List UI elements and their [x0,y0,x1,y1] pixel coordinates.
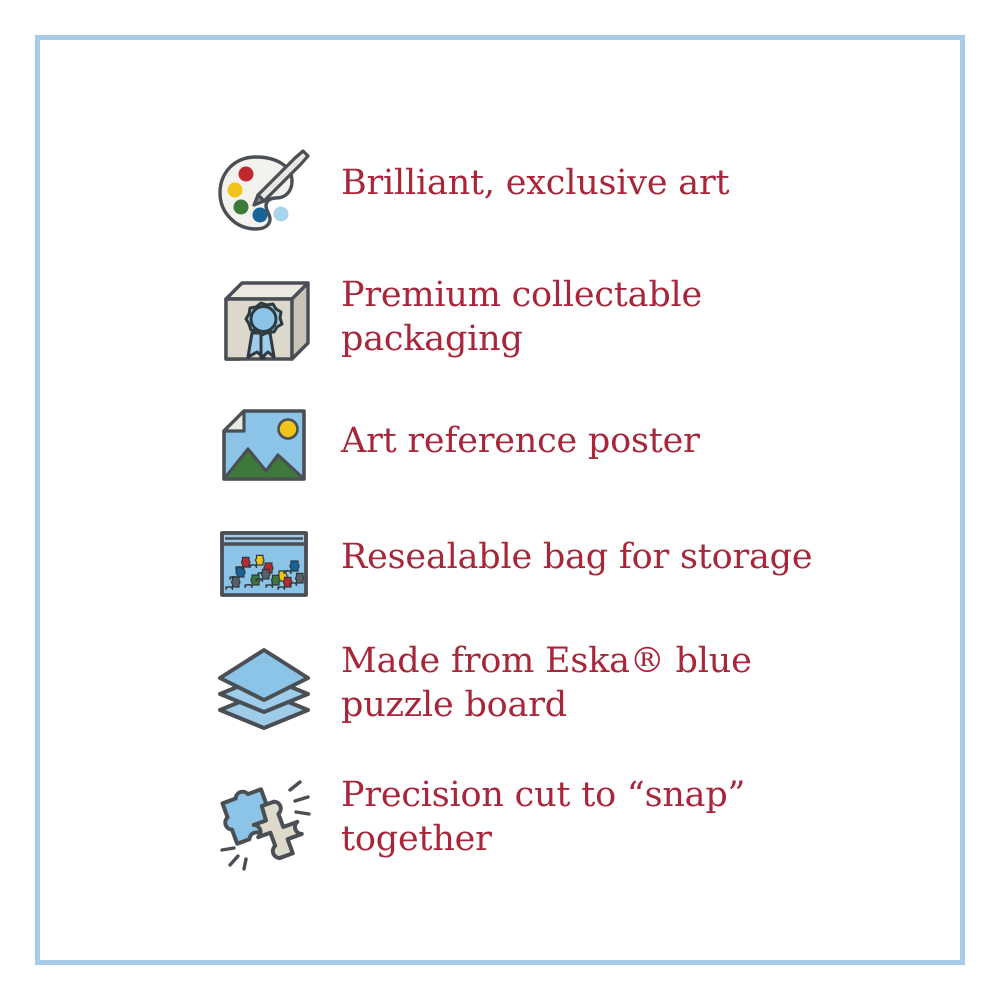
feature-label-line2: puzzle board [341,683,905,727]
feature-item: Premium collectable packaging [205,261,905,381]
feature-item: Brilliant, exclusive art [205,135,905,251]
feature-label: Made from Eska® blue puzzle board [323,627,905,728]
feature-graphic-page: Brilliant, exclusive art [0,0,1000,1000]
feature-list: Brilliant, exclusive art [205,135,905,891]
feature-item: Art reference poster [205,391,905,499]
puzzle-pieces-snap-icon [205,755,323,881]
feature-label-line2: packaging [341,317,905,361]
resealable-bag-icon [205,509,323,617]
stacked-board-layers-icon [205,627,323,745]
feature-label: Premium collectable packaging [323,261,905,362]
feature-label: Resealable bag for storage [323,509,905,579]
feature-label: Brilliant, exclusive art [323,135,905,205]
premium-box-icon [205,261,323,381]
decorative-frame: Brilliant, exclusive art [35,35,965,965]
feature-label-line1: Premium collectable [341,275,702,315]
feature-label: Art reference poster [323,391,905,463]
feature-label-line2: together [341,817,905,861]
feature-label-line1: Resealable bag for storage [341,537,812,577]
paint-palette-icon [205,135,323,251]
feature-label-line1: Made from Eska® blue [341,641,752,681]
feature-label-line1: Art reference poster [341,421,700,461]
feature-item: Made from Eska® blue puzzle board [205,627,905,745]
poster-image-icon [205,391,323,499]
feature-item: Resealable bag for storage [205,509,905,617]
feature-label: Precision cut to “snap” together [323,755,905,862]
feature-label-line1: Precision cut to “snap” [341,775,745,815]
feature-label-line1: Brilliant, exclusive art [341,163,729,203]
feature-item: Precision cut to “snap” together [205,755,905,881]
